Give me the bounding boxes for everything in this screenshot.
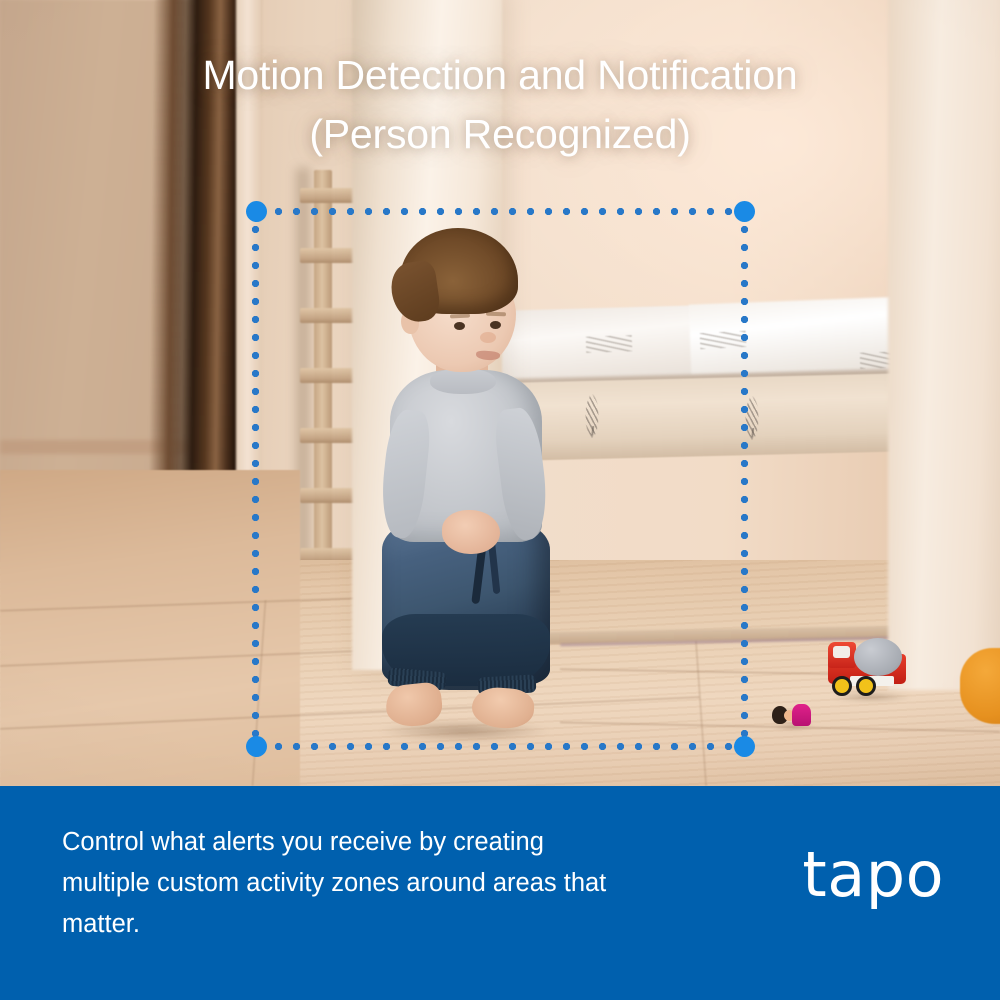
footer-caption: Control what alerts you receive by creat… xyxy=(62,822,752,945)
camera-scene: Motion Detection and Notification (Perso… xyxy=(0,0,1000,786)
tapo-logo: tapo xyxy=(802,844,944,906)
footer-caption-line1: Control what alerts you receive by creat… xyxy=(62,822,752,863)
footer-caption-line2: multiple custom activity zones around ar… xyxy=(62,863,752,904)
toy-truck xyxy=(828,636,914,698)
child-subject xyxy=(372,228,582,730)
bed-print-1 xyxy=(586,335,633,353)
page-title-line1: Motion Detection and Notification xyxy=(0,46,1000,105)
valance-feather-1 xyxy=(580,390,604,452)
valance-feather-2 xyxy=(740,392,764,454)
promo-page: Motion Detection and Notification (Perso… xyxy=(0,0,1000,1000)
page-title: Motion Detection and Notification (Perso… xyxy=(0,46,1000,164)
footer-banner: Control what alerts you receive by creat… xyxy=(0,786,1000,1000)
page-title-line2: (Person Recognized) xyxy=(0,105,1000,164)
footer-caption-line3: matter. xyxy=(62,904,752,945)
bed-print-2 xyxy=(700,331,747,349)
toy-figure xyxy=(772,702,812,728)
